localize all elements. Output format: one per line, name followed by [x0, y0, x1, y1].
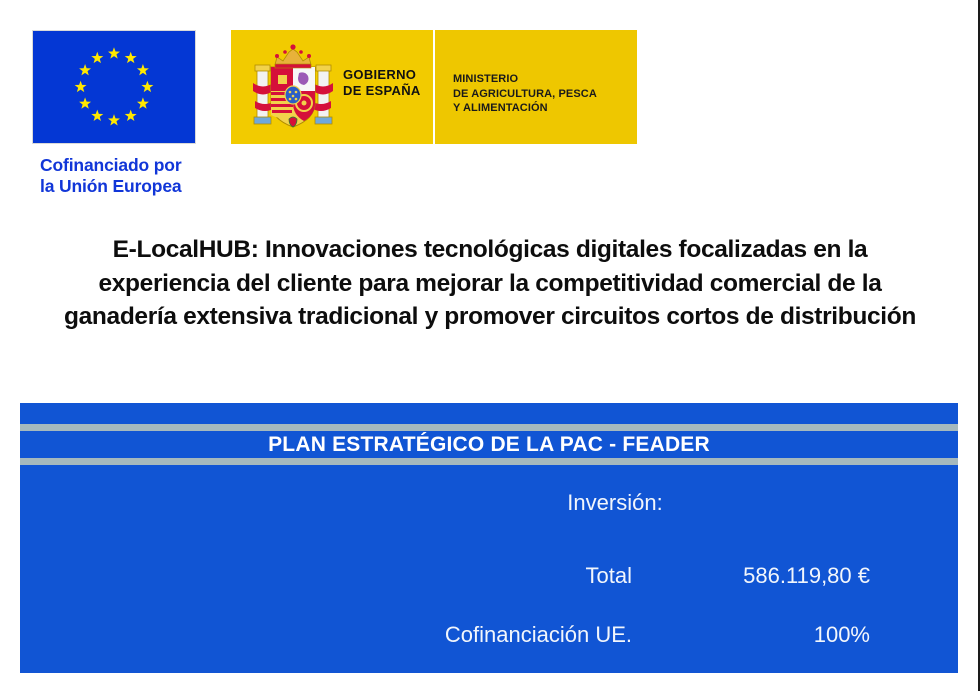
ministerio-line-1: MINISTERIO: [453, 72, 597, 87]
figure-value-cofinanciacion: 100%: [670, 622, 870, 648]
eu-caption-line-1: Cofinanciado por: [40, 155, 196, 176]
ministerio-line-2: DE AGRICULTURA, PESCA: [453, 87, 597, 102]
banner-heading: PLAN ESTRATÉGICO DE LA PAC - FEADER: [20, 431, 958, 458]
ministerio-line-3: Y ALIMENTACIÓN: [453, 101, 597, 116]
ministerio-panel: MINISTERIO DE AGRICULTURA, PESCA Y ALIME…: [435, 30, 637, 144]
spain-coat-of-arms-icon: [249, 43, 337, 135]
figure-row-cofinanciacion: Cofinanciación UE. 100%: [20, 622, 958, 648]
figure-value-total: 586.119,80 €: [670, 563, 870, 589]
gobierno-de-espana-panel: GOBIERNO DE ESPAÑA: [231, 30, 433, 144]
slide-canvas: Cofinanciado por la Unión Europea: [0, 0, 980, 691]
page-title: E-LocalHUB: Innovaciones tecnológicas di…: [50, 233, 930, 334]
banner-rule-bottom: [20, 458, 958, 465]
figure-row-total: Total 586.119,80 €: [20, 563, 958, 589]
gobierno-line-2: DE ESPAÑA: [343, 83, 421, 99]
figure-label-total: Total: [20, 563, 670, 589]
funding-banner: PLAN ESTRATÉGICO DE LA PAC - FEADER Inve…: [20, 403, 958, 673]
eu-caption: Cofinanciado por la Unión Europea: [32, 155, 196, 198]
investment-figures: Total 586.119,80 € Cofinanciación UE. 10…: [20, 563, 958, 681]
logo-strip: Cofinanciado por la Unión Europea: [0, 0, 980, 215]
investment-label: Inversión:: [20, 490, 980, 516]
eu-stars-circle: [33, 31, 195, 143]
gobierno-line-1: GOBIERNO: [343, 67, 421, 83]
eu-emblem-block: Cofinanciado por la Unión Europea: [32, 30, 196, 198]
eu-caption-line-2: la Unión Europea: [40, 176, 196, 197]
banner-rule-top: [20, 424, 958, 431]
eu-flag: [32, 30, 196, 144]
gobierno-de-espana-text: GOBIERNO DE ESPAÑA: [343, 67, 421, 100]
spain-government-logo: GOBIERNO DE ESPAÑA MINISTERIO DE AGRICUL…: [231, 30, 637, 144]
figure-label-cofinanciacion: Cofinanciación UE.: [20, 622, 670, 648]
ministerio-text: MINISTERIO DE AGRICULTURA, PESCA Y ALIME…: [453, 72, 597, 116]
